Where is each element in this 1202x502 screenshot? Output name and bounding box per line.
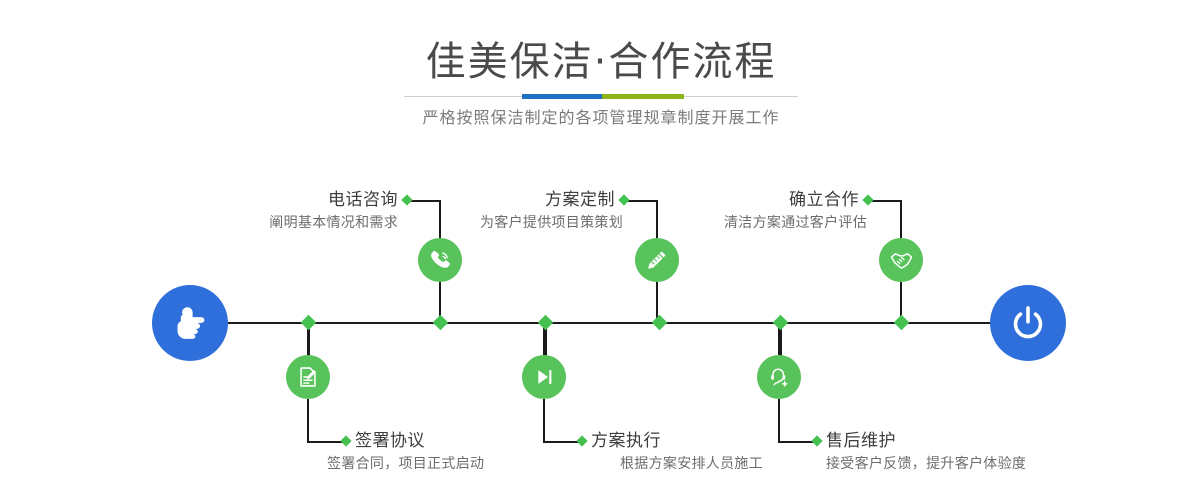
- title-divider: [404, 96, 798, 97]
- page-subtitle: 严格按照保洁制定的各项管理规章制度开展工作: [0, 106, 1202, 130]
- divider-segment-blue: [522, 94, 602, 99]
- axis-marker-4: [652, 315, 668, 331]
- step-desc-plan-customize: 为客户提供项目策策划: [380, 213, 623, 233]
- elbow-vertical-4: [543, 399, 545, 442]
- axis-marker-5: [773, 315, 789, 331]
- step-desc-sign-agreement: 签署合同，项目正式启动: [327, 454, 647, 474]
- node-icon-after-sales: [757, 355, 801, 399]
- elbow-vertical-1: [439, 200, 441, 238]
- axis-marker-1: [301, 315, 317, 331]
- node-icon-plan-execute: [522, 355, 566, 399]
- label-tip-5: [862, 194, 873, 205]
- step-title-phone-consult: 电话咨询: [160, 189, 398, 211]
- pointing-hand-icon: [169, 302, 211, 344]
- pencil-ruler-icon: [644, 247, 670, 273]
- node-icon-plan-customize: [635, 238, 679, 282]
- elbow-horizontal-2: [307, 441, 345, 443]
- axis-marker-2: [433, 315, 449, 331]
- node-icon-establish-cooperation: [879, 238, 923, 282]
- elbow-horizontal-5: [871, 200, 901, 202]
- elbow-horizontal-1: [410, 200, 440, 202]
- elbow-horizontal-6: [778, 441, 816, 443]
- elbow-vertical-3: [656, 200, 658, 238]
- elbow-horizontal-4: [543, 441, 581, 443]
- timeline-end-endpoint: [990, 285, 1066, 361]
- divider-segment-green: [602, 94, 684, 99]
- power-icon: [1007, 302, 1049, 344]
- elbow-vertical-5: [900, 200, 902, 238]
- elbow-vertical-6: [778, 399, 780, 442]
- page-title: 佳美保洁·合作流程: [0, 38, 1202, 86]
- step-desc-after-sales: 接受客户反馈，提升客户体验度: [826, 454, 1156, 474]
- axis-marker-6: [894, 315, 910, 331]
- label-tip-2: [340, 435, 351, 446]
- customer-service-icon: [766, 364, 792, 390]
- phone-call-icon: [427, 247, 453, 273]
- cooperation-flow-infographic: 佳美保洁·合作流程 严格按照保洁制定的各项管理规章制度开展工作: [0, 0, 1202, 502]
- axis-marker-3: [538, 315, 554, 331]
- node-icon-sign-agreement: [286, 355, 330, 399]
- step-title-after-sales: 售后维护: [826, 430, 1126, 452]
- timeline-start-endpoint: [152, 285, 228, 361]
- node-icon-phone-consult: [418, 238, 462, 282]
- document-pen-icon: [295, 364, 321, 390]
- elbow-horizontal-3: [627, 200, 657, 202]
- handshake-icon: [888, 247, 915, 274]
- elbow-vertical-2: [307, 399, 309, 442]
- step-desc-phone-consult: 阐明基本情况和需求: [160, 213, 398, 233]
- play-execute-icon: [531, 364, 557, 390]
